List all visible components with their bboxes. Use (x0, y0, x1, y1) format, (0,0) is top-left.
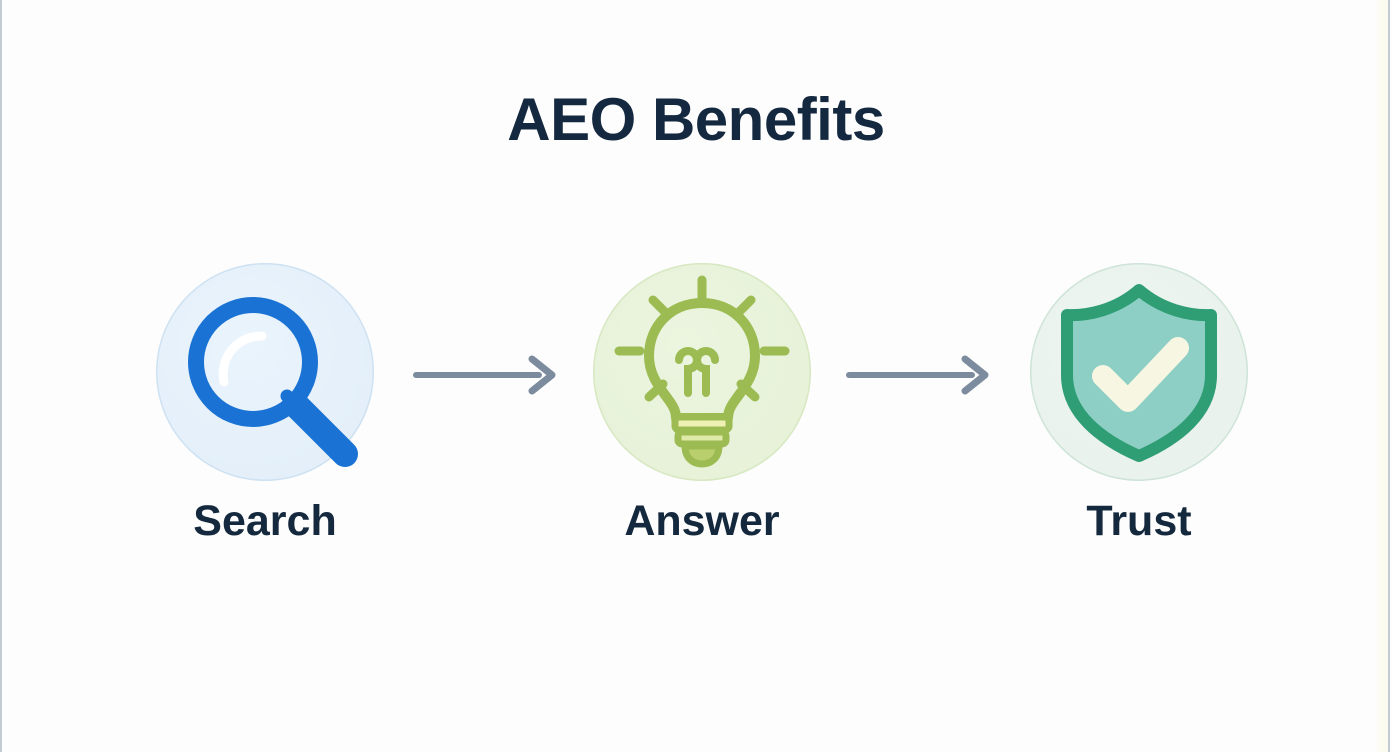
slide-canvas: AEO Benefits Search (0, 0, 1392, 752)
magnifier-icon (156, 263, 374, 481)
page-title: AEO Benefits (0, 90, 1392, 150)
step-label-answer: Answer (533, 500, 871, 543)
step-label-search: Search (96, 500, 434, 543)
flow-step-trust[interactable]: Trust (1030, 263, 1248, 481)
flow-arrow-1 (413, 354, 557, 396)
lightbulb-icon (593, 263, 811, 481)
shield-check-icon (1030, 263, 1248, 481)
flow-arrow-2 (846, 354, 990, 396)
flow-step-answer[interactable]: Answer (593, 263, 811, 481)
step-label-trust: Trust (970, 500, 1308, 543)
flow-step-search[interactable]: Search (156, 263, 374, 481)
